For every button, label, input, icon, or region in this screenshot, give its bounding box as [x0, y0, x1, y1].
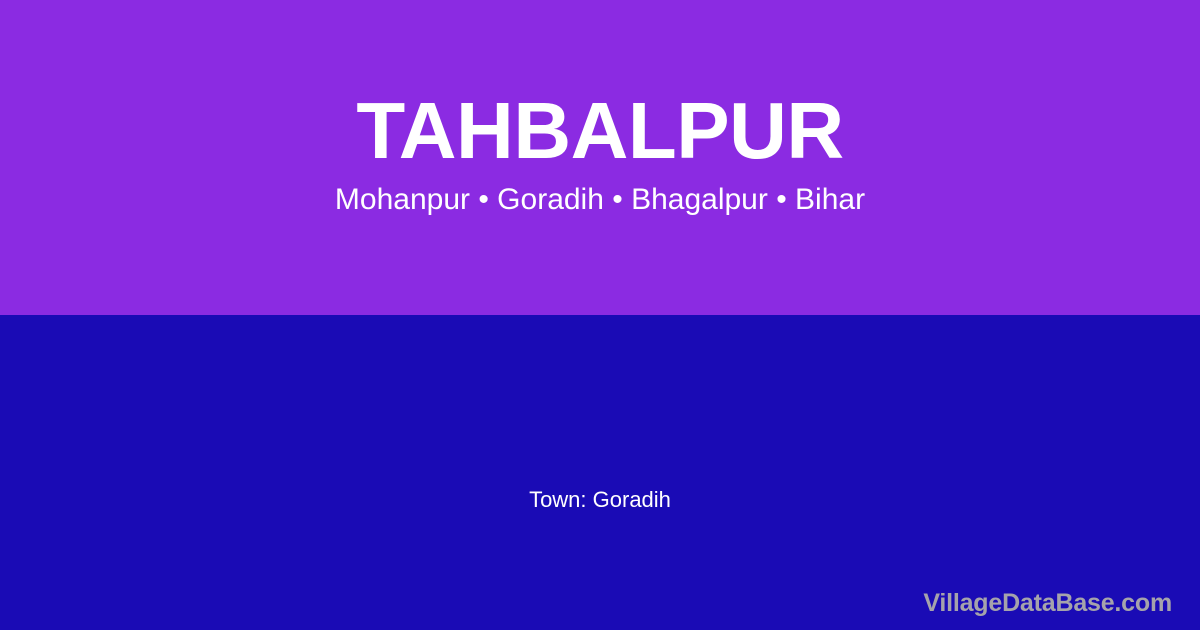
town-detail-line: Town: Goradih [0, 489, 1200, 511]
hero-banner: TAHBALPUR Mohanpur • Goradih • Bhagalpur… [0, 0, 1200, 315]
page-title: TAHBALPUR [0, 91, 1200, 171]
breadcrumb: Mohanpur • Goradih • Bhagalpur • Bihar [0, 185, 1200, 215]
village-info-card: TAHBALPUR Mohanpur • Goradih • Bhagalpur… [0, 0, 1200, 630]
site-watermark: VillageDataBase.com [923, 591, 1172, 616]
body-panel: Town: Goradih [0, 315, 1200, 630]
